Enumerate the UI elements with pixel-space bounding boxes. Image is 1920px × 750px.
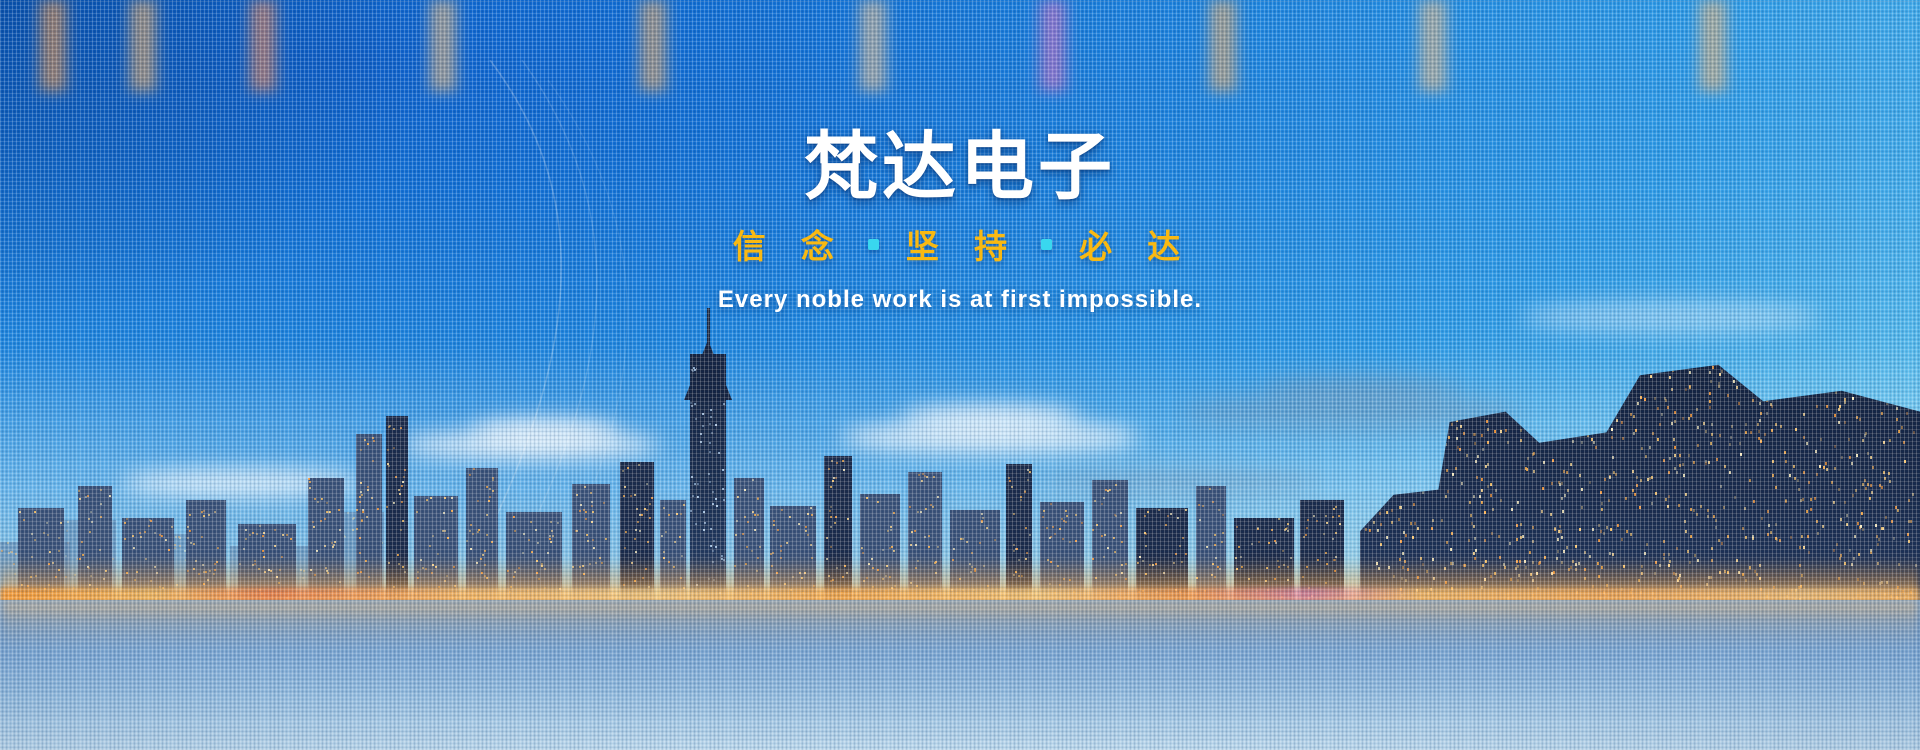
hero-banner: 梵达电子 信 念 坚 持 必 达 Every noble work is at … [0,0,1920,750]
subtitle-word-3: 必 达 [1073,220,1193,268]
brand-subtitle: 信 念 坚 持 必 达 [0,220,1920,268]
brand-tagline: Every noble work is at first impossible. [0,286,1920,314]
subtitle-word-2: 坚 持 [900,220,1020,268]
water-reflection-glow [0,600,1920,750]
subtitle-word-1: 信 念 [727,220,847,268]
hero-copy: 梵达电子 信 念 坚 持 必 达 Every noble work is at … [0,128,1920,314]
separator-dot-icon [1041,239,1052,250]
cityscape [0,274,1920,604]
separator-dot-icon [868,239,879,250]
brand-title: 梵达电子 [0,128,1920,206]
